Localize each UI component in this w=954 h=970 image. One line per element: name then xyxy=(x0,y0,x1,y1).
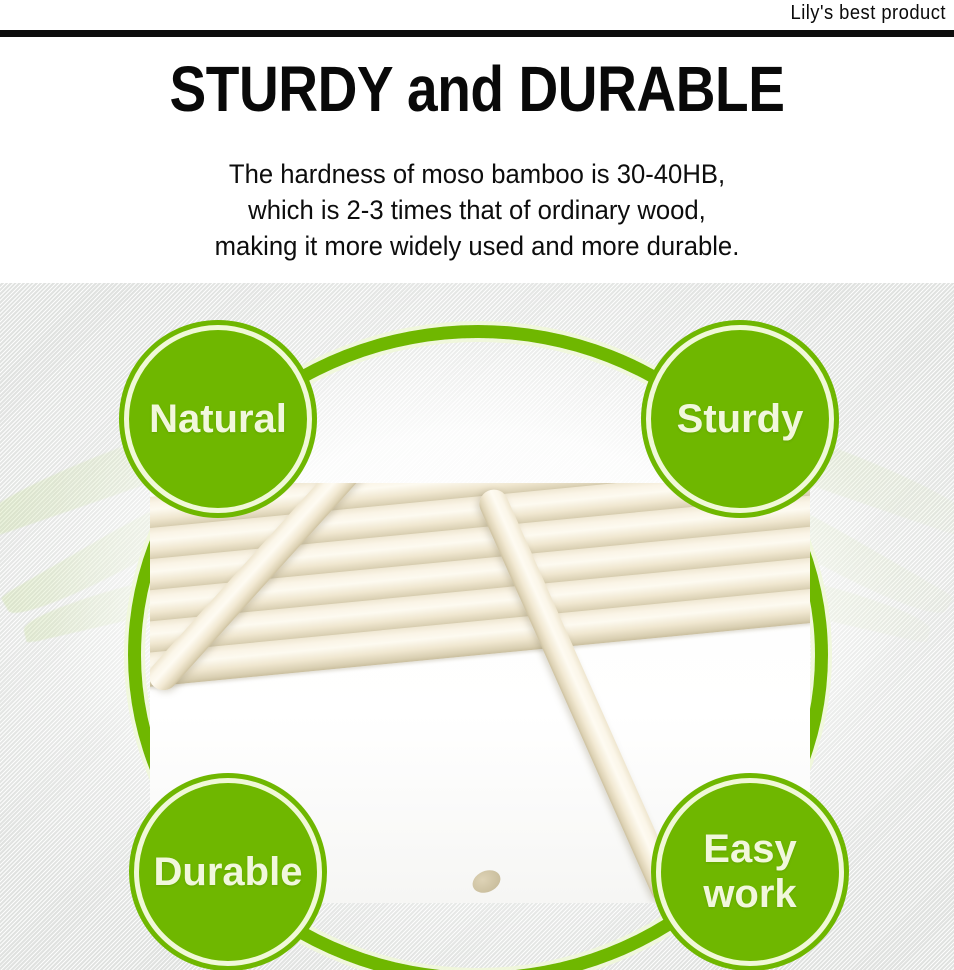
description-line-2: which is 2-3 times that of ordinary wood… xyxy=(24,192,930,228)
page-title: STURDY and DURABLE xyxy=(67,54,887,124)
feature-bubble-label: Natural xyxy=(149,398,287,440)
description-line-3: making it more widely used and more dura… xyxy=(24,228,930,264)
feature-bubble-sturdy[interactable]: Sturdy xyxy=(646,325,834,513)
header-divider-rule xyxy=(0,30,954,37)
feature-bubble-label: Durable xyxy=(154,851,303,893)
feature-bubble-label: Easy work xyxy=(703,827,796,917)
feature-bubble-easy-work[interactable]: Easy work xyxy=(656,778,844,966)
product-infographic-page: Lily's best product STURDY and DURABLE T… xyxy=(0,0,954,970)
feature-bubble-natural[interactable]: Natural xyxy=(124,325,312,513)
brand-bar: Lily's best product xyxy=(0,0,954,40)
brand-tagline: Lily's best product xyxy=(791,2,946,25)
feature-bubble-durable[interactable]: Durable xyxy=(134,778,322,966)
description-block: The hardness of moso bamboo is 30-40HB, … xyxy=(24,156,930,264)
feature-bubble-label: Sturdy xyxy=(677,398,804,440)
description-line-1: The hardness of moso bamboo is 30-40HB, xyxy=(24,156,930,192)
infographic-panel: Natural Sturdy Durable Easy work xyxy=(0,283,954,970)
